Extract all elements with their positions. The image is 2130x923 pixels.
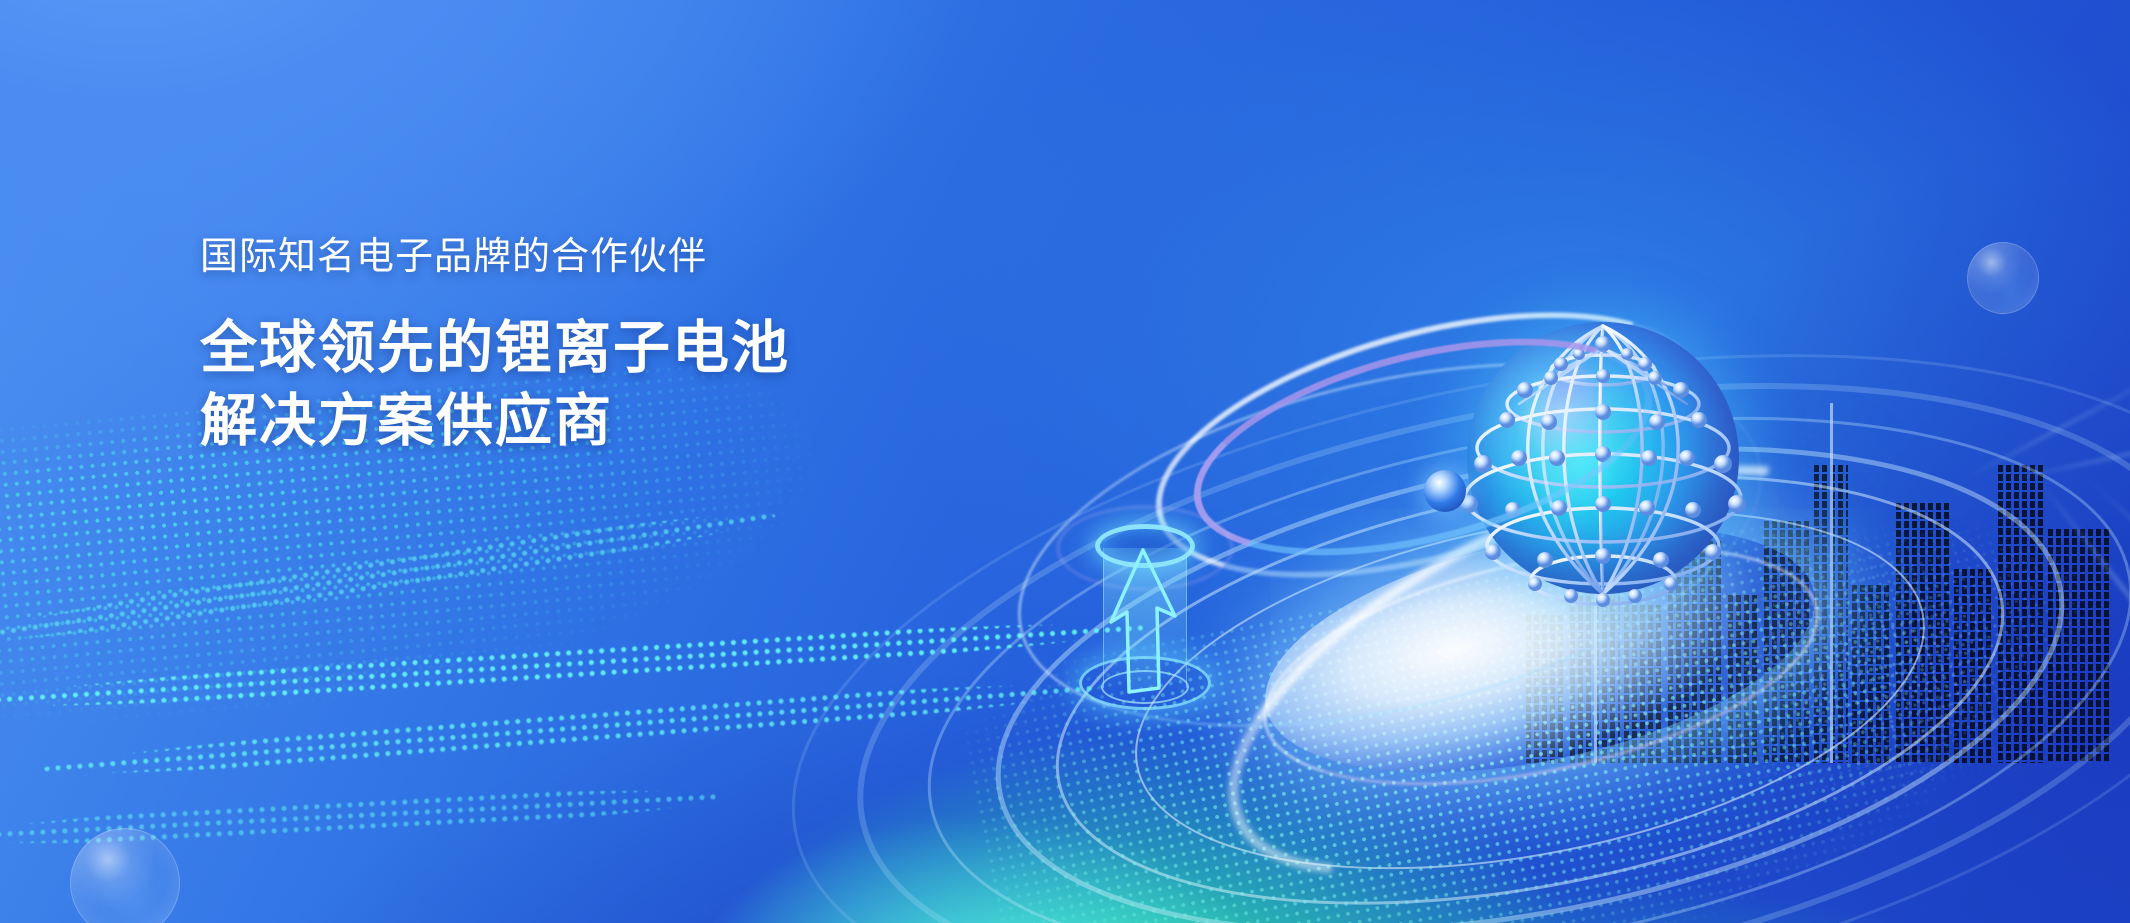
hero-headline-line-1: 全球领先的锂离子电池 xyxy=(200,312,790,385)
orbit-node-icon xyxy=(1424,470,1466,512)
hero-subtitle: 国际知名电子品牌的合作伙伴 xyxy=(200,238,790,276)
hero-headline-line-2: 解决方案供应商 xyxy=(200,385,790,458)
hero-banner: 国际知名电子品牌的合作伙伴 全球领先的锂离子电池 解决方案供应商 xyxy=(0,0,2130,923)
up-arrow-portal-icon xyxy=(1085,520,1205,710)
up-arrow-icon xyxy=(1099,542,1191,700)
bubble-icon xyxy=(1967,242,2039,314)
hero-copy: 国际知名电子品牌的合作伙伴 全球领先的锂离子电池 解决方案供应商 xyxy=(200,238,790,458)
